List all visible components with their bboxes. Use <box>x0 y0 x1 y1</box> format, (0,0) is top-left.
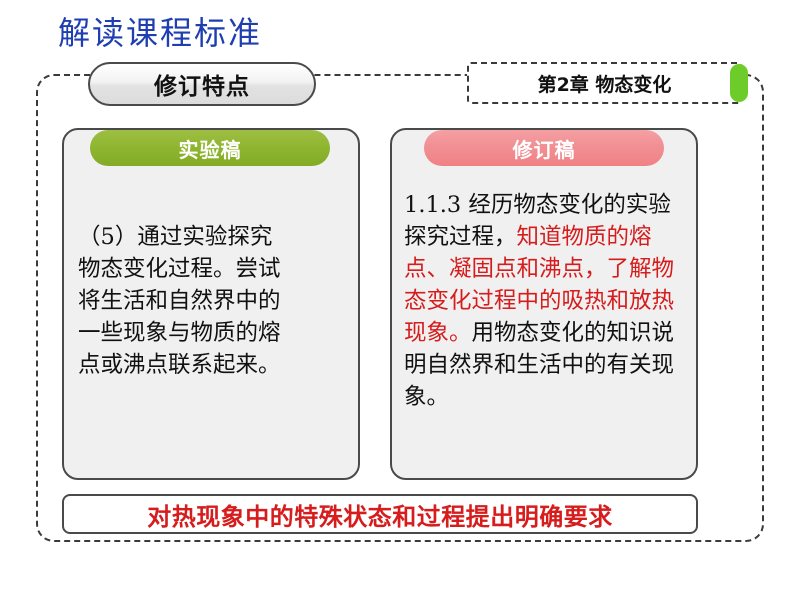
panel-body-line: 物态变化过程。尝试 <box>78 254 346 286</box>
conclusion-box: 对热现象中的特殊状态和过程提出明确要求 <box>62 494 698 534</box>
panel-body-experimental-draft: （5）通过实验探究物态变化过程。尝试将生活和自然界中的一些现象与物质的熔点或沸点… <box>78 222 346 382</box>
panel-header-revised-draft: 修订稿 <box>424 130 664 166</box>
badge-revision-features: 修订特点 <box>88 62 316 106</box>
panel-body-line: 将生活和自然界中的 <box>78 286 346 318</box>
panel-header-experimental-draft-label: 实验稿 <box>179 134 242 163</box>
chapter-accent-marker <box>730 64 748 102</box>
page-title: 解读课程标准 <box>58 8 262 54</box>
panel-header-revised-draft-label: 修订稿 <box>513 134 576 163</box>
conclusion-label: 对热现象中的特殊状态和过程提出明确要求 <box>147 497 613 532</box>
panel-body-line: 点或沸点联系起来。 <box>78 350 346 382</box>
panel-body-line: 一些现象与物质的熔 <box>78 318 346 350</box>
badge-chapter-label: 第2章 物态变化 <box>538 70 672 97</box>
badge-chapter: 第2章 物态变化 <box>467 62 742 104</box>
badge-revision-features-label: 修订特点 <box>154 67 250 101</box>
panel-body-revised-draft: 1.1.3 经历物态变化的实验探究过程，知道物质的熔点、凝固点和沸点，了解物态变… <box>404 190 688 414</box>
panel-body-line: （5）通过实验探究 <box>78 222 346 254</box>
panel-header-experimental-draft: 实验稿 <box>90 130 330 166</box>
